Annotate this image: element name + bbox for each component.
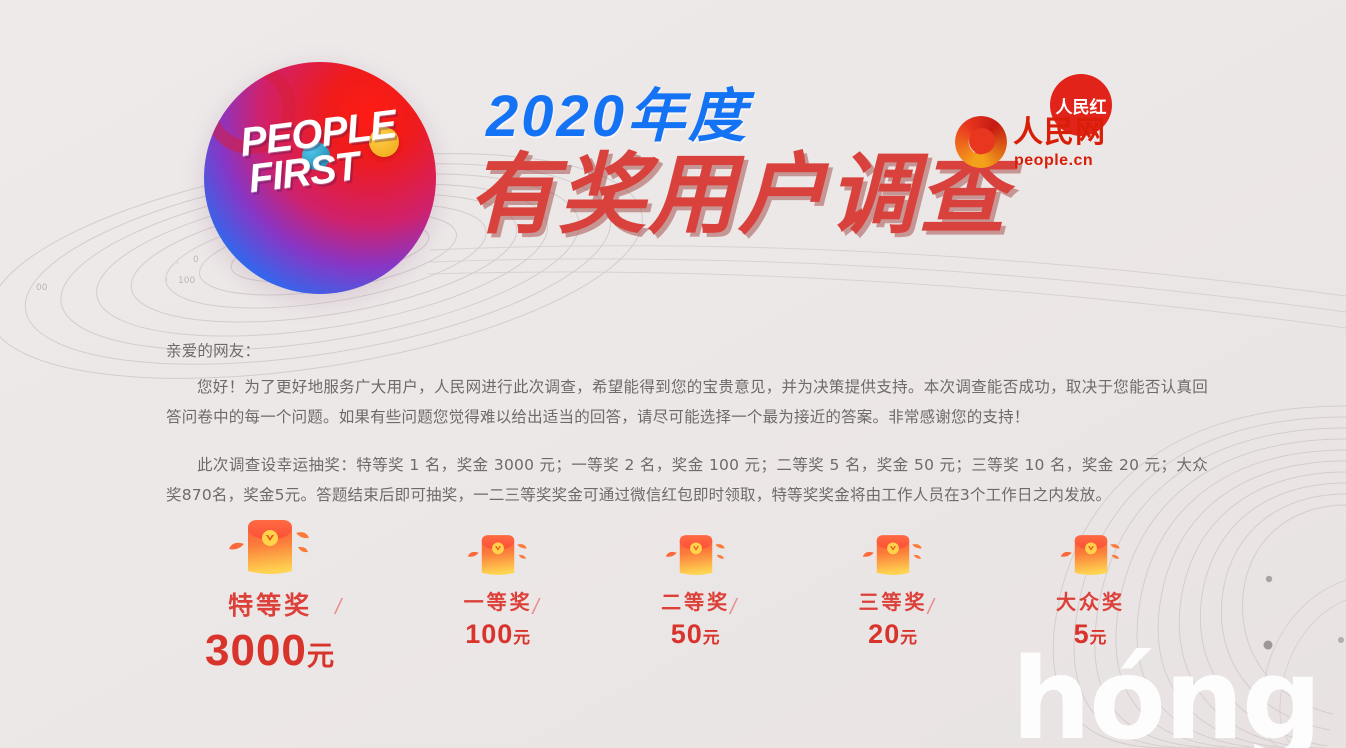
prize-amount-value: 100 xyxy=(465,619,513,649)
red-packet-icon xyxy=(665,530,727,580)
prize-name: 二等奖 xyxy=(661,586,730,615)
salutation: 亲爱的网友： xyxy=(166,336,1208,366)
people-cn-url: people.cn xyxy=(1014,152,1093,170)
prize-amount: 50元 xyxy=(661,619,730,650)
title-block: 2020年度 有奖用户调查 xyxy=(468,88,1008,240)
prize-separator: / xyxy=(533,594,539,620)
prize-item-second[interactable]: 二等奖 50元 xyxy=(661,512,730,650)
prize-amount: 20元 xyxy=(859,619,928,650)
people-cn-mark-core-icon xyxy=(969,128,995,154)
prize-amount-unit: 元 xyxy=(703,628,721,647)
prize-item-first[interactable]: 一等奖 100元 xyxy=(464,512,533,650)
gradient-sphere-icon: PEOPLE FIRST xyxy=(204,62,436,294)
prize-item-grand[interactable]: 特等奖 3000元 xyxy=(205,512,335,676)
prize-amount-unit: 元 xyxy=(513,628,531,647)
prize-icon-box xyxy=(464,512,533,580)
prize-name: 特等奖 xyxy=(205,586,335,622)
red-packet-icon xyxy=(467,530,529,580)
prize-separator: / xyxy=(928,594,934,620)
page-title: 有奖用户调查 xyxy=(468,150,1008,240)
emblem-wordmark: PEOPLE FIRST xyxy=(238,103,426,198)
red-packet-icon xyxy=(1060,530,1122,580)
paragraph-gap xyxy=(166,440,1208,450)
prize-amount-unit: 元 xyxy=(307,640,335,671)
prize-name: 一等奖 xyxy=(464,586,533,615)
people-cn-name: 人民网 xyxy=(1013,118,1106,148)
prize-separator: / xyxy=(730,594,736,620)
prize-icon-box xyxy=(859,512,928,580)
prize-amount: 100元 xyxy=(464,619,533,650)
prize-icon-box xyxy=(1056,512,1125,580)
prize-amount-value: 3000 xyxy=(205,626,307,675)
red-packet-icon xyxy=(862,530,924,580)
prize-separator: / xyxy=(335,594,341,620)
prize-amount-value: 50 xyxy=(671,619,703,649)
people-first-emblem: PEOPLE FIRST xyxy=(204,62,436,294)
prize-name: 大众奖 xyxy=(1056,586,1125,615)
people-cn-logo[interactable]: 人民红 人民网 people.cn xyxy=(955,74,1120,186)
prize-icon-box xyxy=(205,512,335,580)
poster-page: 0 · 100 · 00 ·0 xyxy=(0,0,1346,748)
prize-item-third[interactable]: 三等奖 20元 xyxy=(859,512,928,650)
prize-amount-value: 20 xyxy=(868,619,900,649)
prize-amount: 3000元 xyxy=(205,626,335,676)
title-year: 2020年度 xyxy=(486,88,1008,146)
prize-list: 特等奖 3000元 / 一等奖 100元 / xyxy=(205,512,1125,676)
prize-icon-box xyxy=(661,512,730,580)
prize-amount-unit: 元 xyxy=(900,628,918,647)
invitation-copy: 亲爱的网友： 您好！为了更好地服务广大用户，人民网进行此次调查，希望能得到您的宝… xyxy=(166,336,1208,518)
prize-name: 三等奖 xyxy=(859,586,928,615)
prize-item-popular[interactable]: 大众奖 5元 xyxy=(1056,512,1125,650)
hong-watermark: hóng xyxy=(1011,644,1320,748)
red-packet-icon xyxy=(228,514,312,580)
poster-header: PEOPLE FIRST 2020年度 有奖用户调查 人民红 人民网 peopl… xyxy=(0,0,1346,310)
paragraph-prizes: 此次调查设幸运抽奖：特等奖 1 名，奖金 3000 元；一等奖 2 名，奖金 1… xyxy=(166,450,1208,510)
paragraph-intro: 您好！为了更好地服务广大用户，人民网进行此次调查，希望能得到您的宝贵意见，并为决… xyxy=(166,372,1208,432)
